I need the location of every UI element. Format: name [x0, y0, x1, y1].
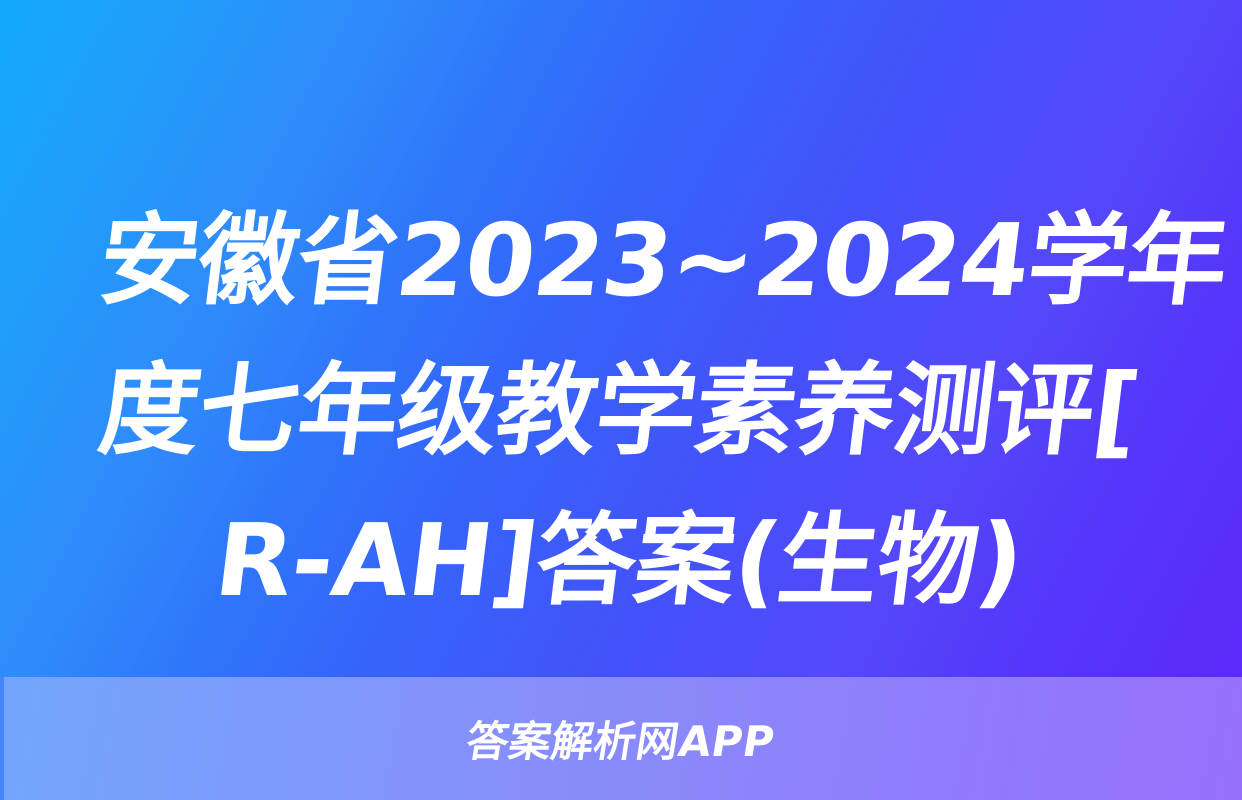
page-title: 安 徽 省 2 0 2 3 ~ 2 0 2 4 学 年 度 七 年 级 教 学 … [100, 186, 1142, 636]
title-char: 教 [488, 336, 605, 486]
title-char: 年 [1118, 186, 1235, 336]
watermark-label: 答案解析网APP [0, 677, 1242, 800]
title-char: 测 [885, 336, 1002, 486]
title-line-1: 安 徽 省 2 0 2 3 ~ 2 0 2 4 学 年 [91, 186, 1147, 336]
title-char: 安 [91, 186, 208, 336]
title-char: 徽 [190, 186, 307, 336]
title-char: 评 [985, 336, 1102, 486]
title-char: 七 [190, 336, 307, 486]
watermark-strip: 答案解析网APP [0, 677, 1242, 800]
title-char: 素 [687, 336, 804, 486]
title-char: 养 [786, 336, 903, 486]
title-char: 度 [91, 336, 208, 486]
title-char: 级 [389, 336, 506, 486]
title-char: 年 [289, 336, 406, 486]
title-line-3: R-AH]答案(生物) [91, 486, 1147, 636]
cover-card: 安 徽 省 2 0 2 3 ~ 2 0 2 4 学 年 度 七 年 级 教 学 … [0, 0, 1242, 800]
title-line-2: 度 七 年 级 教 学 素 养 测 评 [ [91, 336, 1147, 486]
title-char: 学 [1019, 186, 1136, 336]
title-char: 学 [587, 336, 704, 486]
title-char: 省 [289, 186, 406, 336]
